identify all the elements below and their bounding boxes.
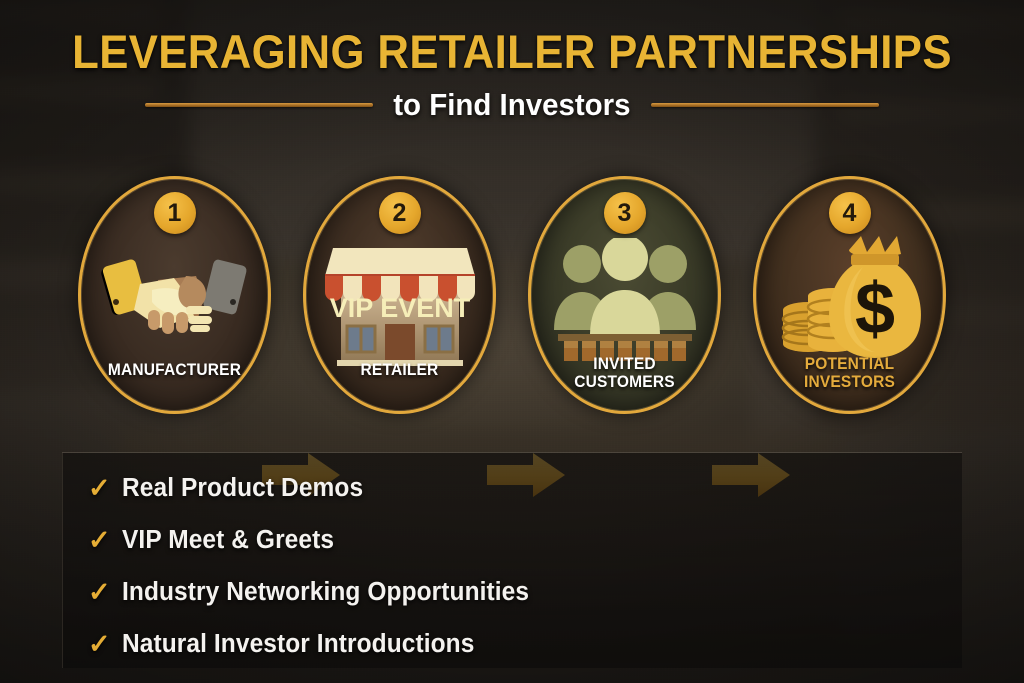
list-item-label: Real Product Demos (122, 474, 363, 503)
list-item: ✓ VIP Meet & Greets (88, 514, 908, 566)
people-group-icon (550, 238, 700, 369)
infographic-canvas: LEVERAGING RETAILER PARTNERSHIPS to Find… (0, 0, 1024, 683)
list-item-label: Natural Investor Introductions (122, 630, 474, 659)
list-item: ✓ Real Product Demos (88, 462, 908, 514)
money-bag-icon: $ (775, 232, 925, 367)
list-item-label: Industry Networking Opportunities (122, 578, 529, 607)
page-subtitle: to Find Investors (393, 87, 630, 123)
step-label: POTENTIAL INVESTORS (759, 356, 940, 392)
step-label-line1: POTENTIAL (759, 356, 940, 374)
step-label-line2: CUSTOMERS (534, 374, 715, 392)
flow-step-retailer[interactable]: 2 (303, 176, 496, 414)
flow-step-invited-customers[interactable]: 3 (528, 176, 721, 414)
check-icon: ✓ (88, 579, 122, 606)
handshake-icon (100, 246, 250, 361)
step-label-line2: INVESTORS (759, 374, 940, 392)
header: LEVERAGING RETAILER PARTNERSHIPS to Find… (0, 28, 1024, 123)
step-label: MANUFACTURER (84, 362, 265, 380)
benefits-list: ✓ Real Product Demos ✓ VIP Meet & Greets… (88, 462, 908, 670)
page-title: LEVERAGING RETAILER PARTNERSHIPS (36, 28, 988, 75)
step-number-badge: 2 (379, 192, 421, 234)
svg-text:VIP EVENT: VIP EVENT (329, 293, 470, 323)
flow-step-manufacturer[interactable]: 1 (78, 176, 271, 414)
flow-step-potential-investors[interactable]: 4 (753, 176, 946, 414)
list-item: ✓ Industry Networking Opportunities (88, 566, 908, 618)
check-icon: ✓ (88, 527, 122, 554)
step-number-badge: 1 (154, 192, 196, 234)
svg-text:$: $ (854, 269, 894, 349)
list-item: ✓ Natural Investor Introductions (88, 618, 908, 670)
list-item-label: VIP Meet & Greets (122, 526, 334, 555)
check-icon: ✓ (88, 475, 122, 502)
step-label-line1: INVITED (534, 356, 715, 374)
step-number-badge: 4 (829, 192, 871, 234)
step-number-badge: 3 (604, 192, 646, 234)
subtitle-row: to Find Investors (0, 87, 1024, 123)
step-label: INVITED CUSTOMERS (534, 356, 715, 392)
rule-right (651, 103, 879, 107)
check-icon: ✓ (88, 631, 122, 658)
process-flow: 1 (0, 176, 1024, 414)
storefront-icon: VIP EVENT (321, 232, 479, 377)
step-label: RETAILER (309, 362, 490, 380)
rule-left (145, 103, 373, 107)
